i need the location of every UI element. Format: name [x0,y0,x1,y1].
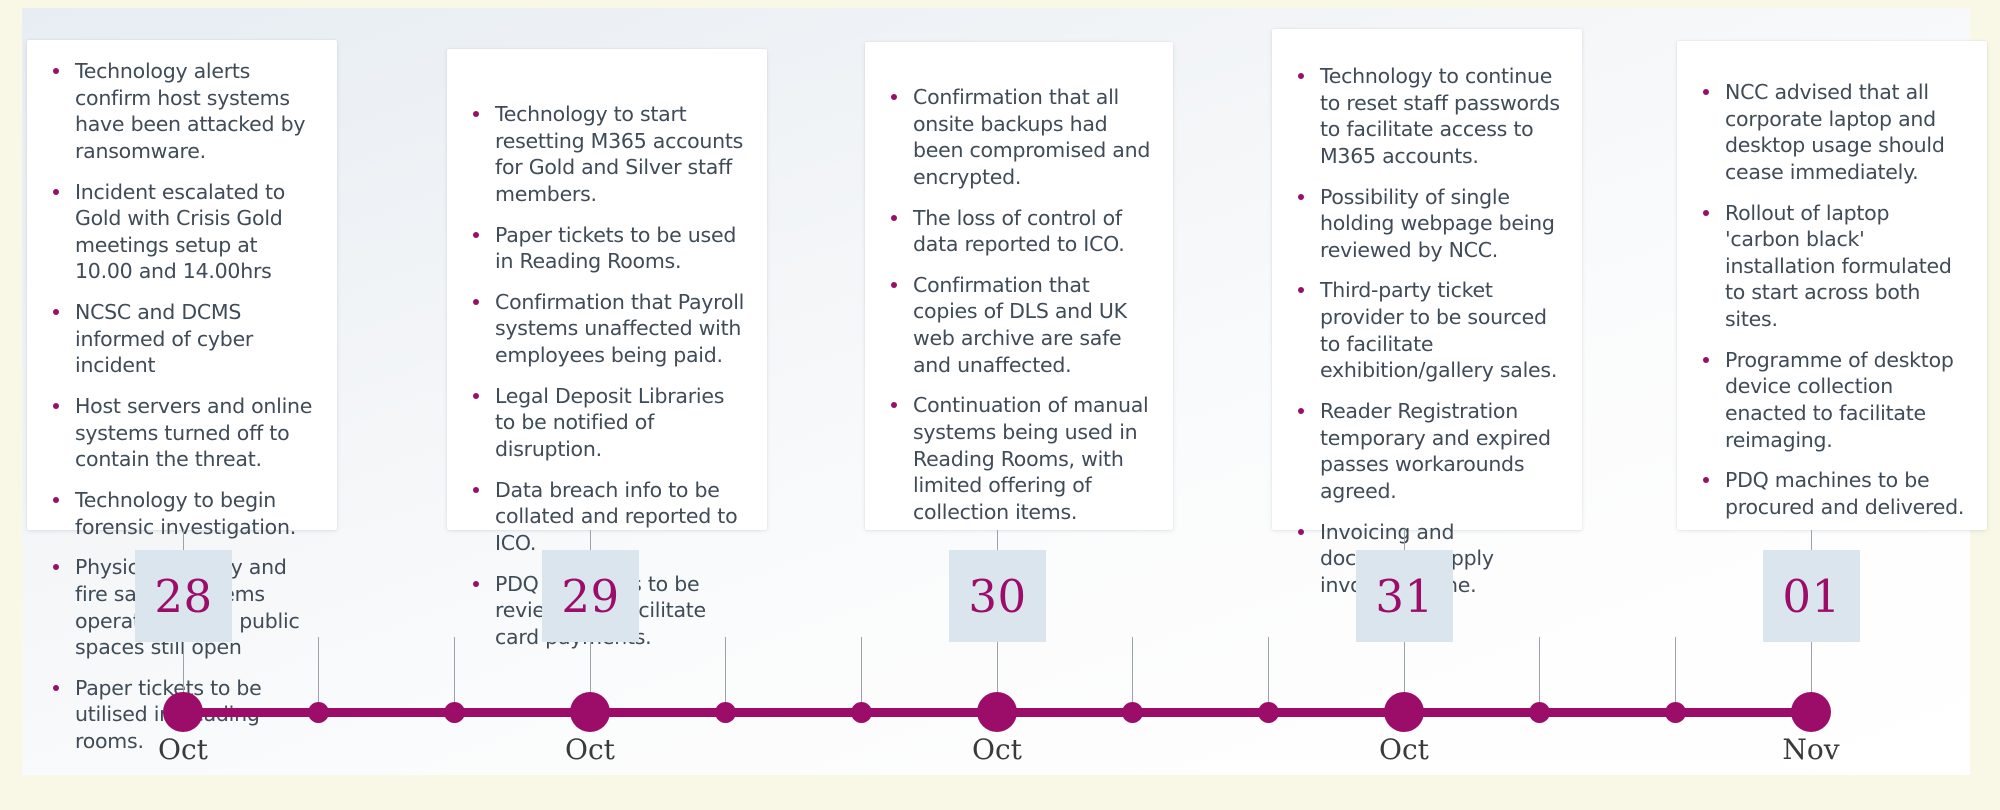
timeline-node-29[interactable] [570,692,610,732]
timeline-node-30[interactable] [977,692,1017,732]
timeline-minor-node-5[interactable] [1122,702,1143,723]
minor-tick-stem-7 [1539,637,1540,709]
connector-stem-upper-31 [1404,530,1405,550]
bullet-list: NCC advised that all corporate laptop an… [1699,79,1965,521]
timeline-node-31[interactable] [1384,692,1424,732]
list-item: Incident escalated to Gold with Crisis G… [49,179,315,286]
timeline-node-01[interactable] [1791,692,1831,732]
date-number: 28 [154,570,212,623]
list-item: Data breach info to be collated and repo… [469,477,745,557]
list-item: Reader Registration temporary and expire… [1294,398,1560,505]
month-label-29: Oct [530,733,650,766]
date-box-28[interactable]: 28 [135,550,232,642]
date-number: 29 [561,570,619,623]
date-box-31[interactable]: 31 [1356,550,1453,642]
bullet-list: Technology alerts confirm host systems h… [49,58,315,755]
month-label-31: Oct [1344,733,1464,766]
timeline-minor-node-6[interactable] [1258,702,1279,723]
timeline-minor-node-2[interactable] [444,702,465,723]
event-card-28-oct[interactable]: Technology alerts confirm host systems h… [27,40,337,530]
list-item: Host servers and online systems turned o… [49,393,315,473]
list-item: Possibility of single holding webpage be… [1294,184,1560,264]
timeline-minor-node-4[interactable] [851,702,872,723]
month-label-01: Nov [1751,733,1871,766]
date-number: 30 [968,570,1026,623]
list-item: Third-party ticket provider to be source… [1294,277,1560,384]
month-label-28: Oct [123,733,243,766]
minor-tick-stem-1 [318,637,319,709]
connector-stem-upper-29 [590,530,591,550]
minor-tick-stem-3 [725,637,726,709]
list-item: Technology to continue to reset staff pa… [1294,63,1560,170]
list-item: Continuation of manual systems being use… [887,392,1151,525]
page-frame: Technology alerts confirm host systems h… [0,0,2000,810]
minor-tick-stem-8 [1675,637,1676,709]
connector-stem-upper-28 [183,530,184,550]
timeline-node-28[interactable] [163,692,203,732]
list-item: The loss of control of data reported to … [887,205,1151,258]
cards-row: Technology alerts confirm host systems h… [22,8,1970,528]
list-item: Confirmation that copies of DLS and UK w… [887,272,1151,379]
minor-tick-stem-6 [1268,637,1269,709]
minor-tick-stem-4 [861,637,862,709]
list-item: Confirmation that Payroll systems unaffe… [469,289,745,369]
bullet-list: Technology to continue to reset staff pa… [1294,63,1560,599]
list-item: Technology to begin forensic investigati… [49,487,315,540]
list-item: NCC advised that all corporate laptop an… [1699,79,1965,186]
timeline-minor-node-8[interactable] [1665,702,1686,723]
date-box-30[interactable]: 30 [949,550,1046,642]
list-item: Programme of desktop device collection e… [1699,347,1965,454]
event-card-01-nov[interactable]: NCC advised that all corporate laptop an… [1677,41,1987,530]
list-item: Technology alerts confirm host systems h… [49,58,315,165]
month-label-30: Oct [937,733,1057,766]
list-item: Paper tickets to be used in Reading Room… [469,222,745,275]
list-item: Technology to start resetting M365 accou… [469,101,745,208]
list-item: Confirmation that all onsite backups had… [887,84,1151,191]
list-item: NCSC and DCMS informed of cyber incident [49,299,315,379]
event-card-30-oct[interactable]: Confirmation that all onsite backups had… [865,42,1173,530]
date-number: 01 [1782,570,1840,623]
date-box-29[interactable]: 29 [542,550,639,642]
list-item: PDQ machines to be procured and delivere… [1699,467,1965,520]
date-box-01[interactable]: 01 [1763,550,1860,642]
timeline-minor-node-7[interactable] [1529,702,1550,723]
event-card-31-oct[interactable]: Technology to continue to reset staff pa… [1272,29,1582,530]
timeline-minor-node-1[interactable] [308,702,329,723]
list-item: Legal Deposit Libraries to be notified o… [469,383,745,463]
bullet-list: Confirmation that all onsite backups had… [887,84,1151,526]
connector-stem-upper-30 [997,530,998,550]
date-number: 31 [1375,570,1433,623]
connector-stem-upper-01 [1811,530,1812,550]
timeline-minor-node-3[interactable] [715,702,736,723]
event-card-29-oct[interactable]: Technology to start resetting M365 accou… [447,49,767,530]
timeline-panel: Technology alerts confirm host systems h… [22,8,1970,775]
list-item: Rollout of laptop 'carbon black' install… [1699,200,1965,333]
minor-tick-stem-5 [1132,637,1133,709]
minor-tick-stem-2 [454,637,455,709]
